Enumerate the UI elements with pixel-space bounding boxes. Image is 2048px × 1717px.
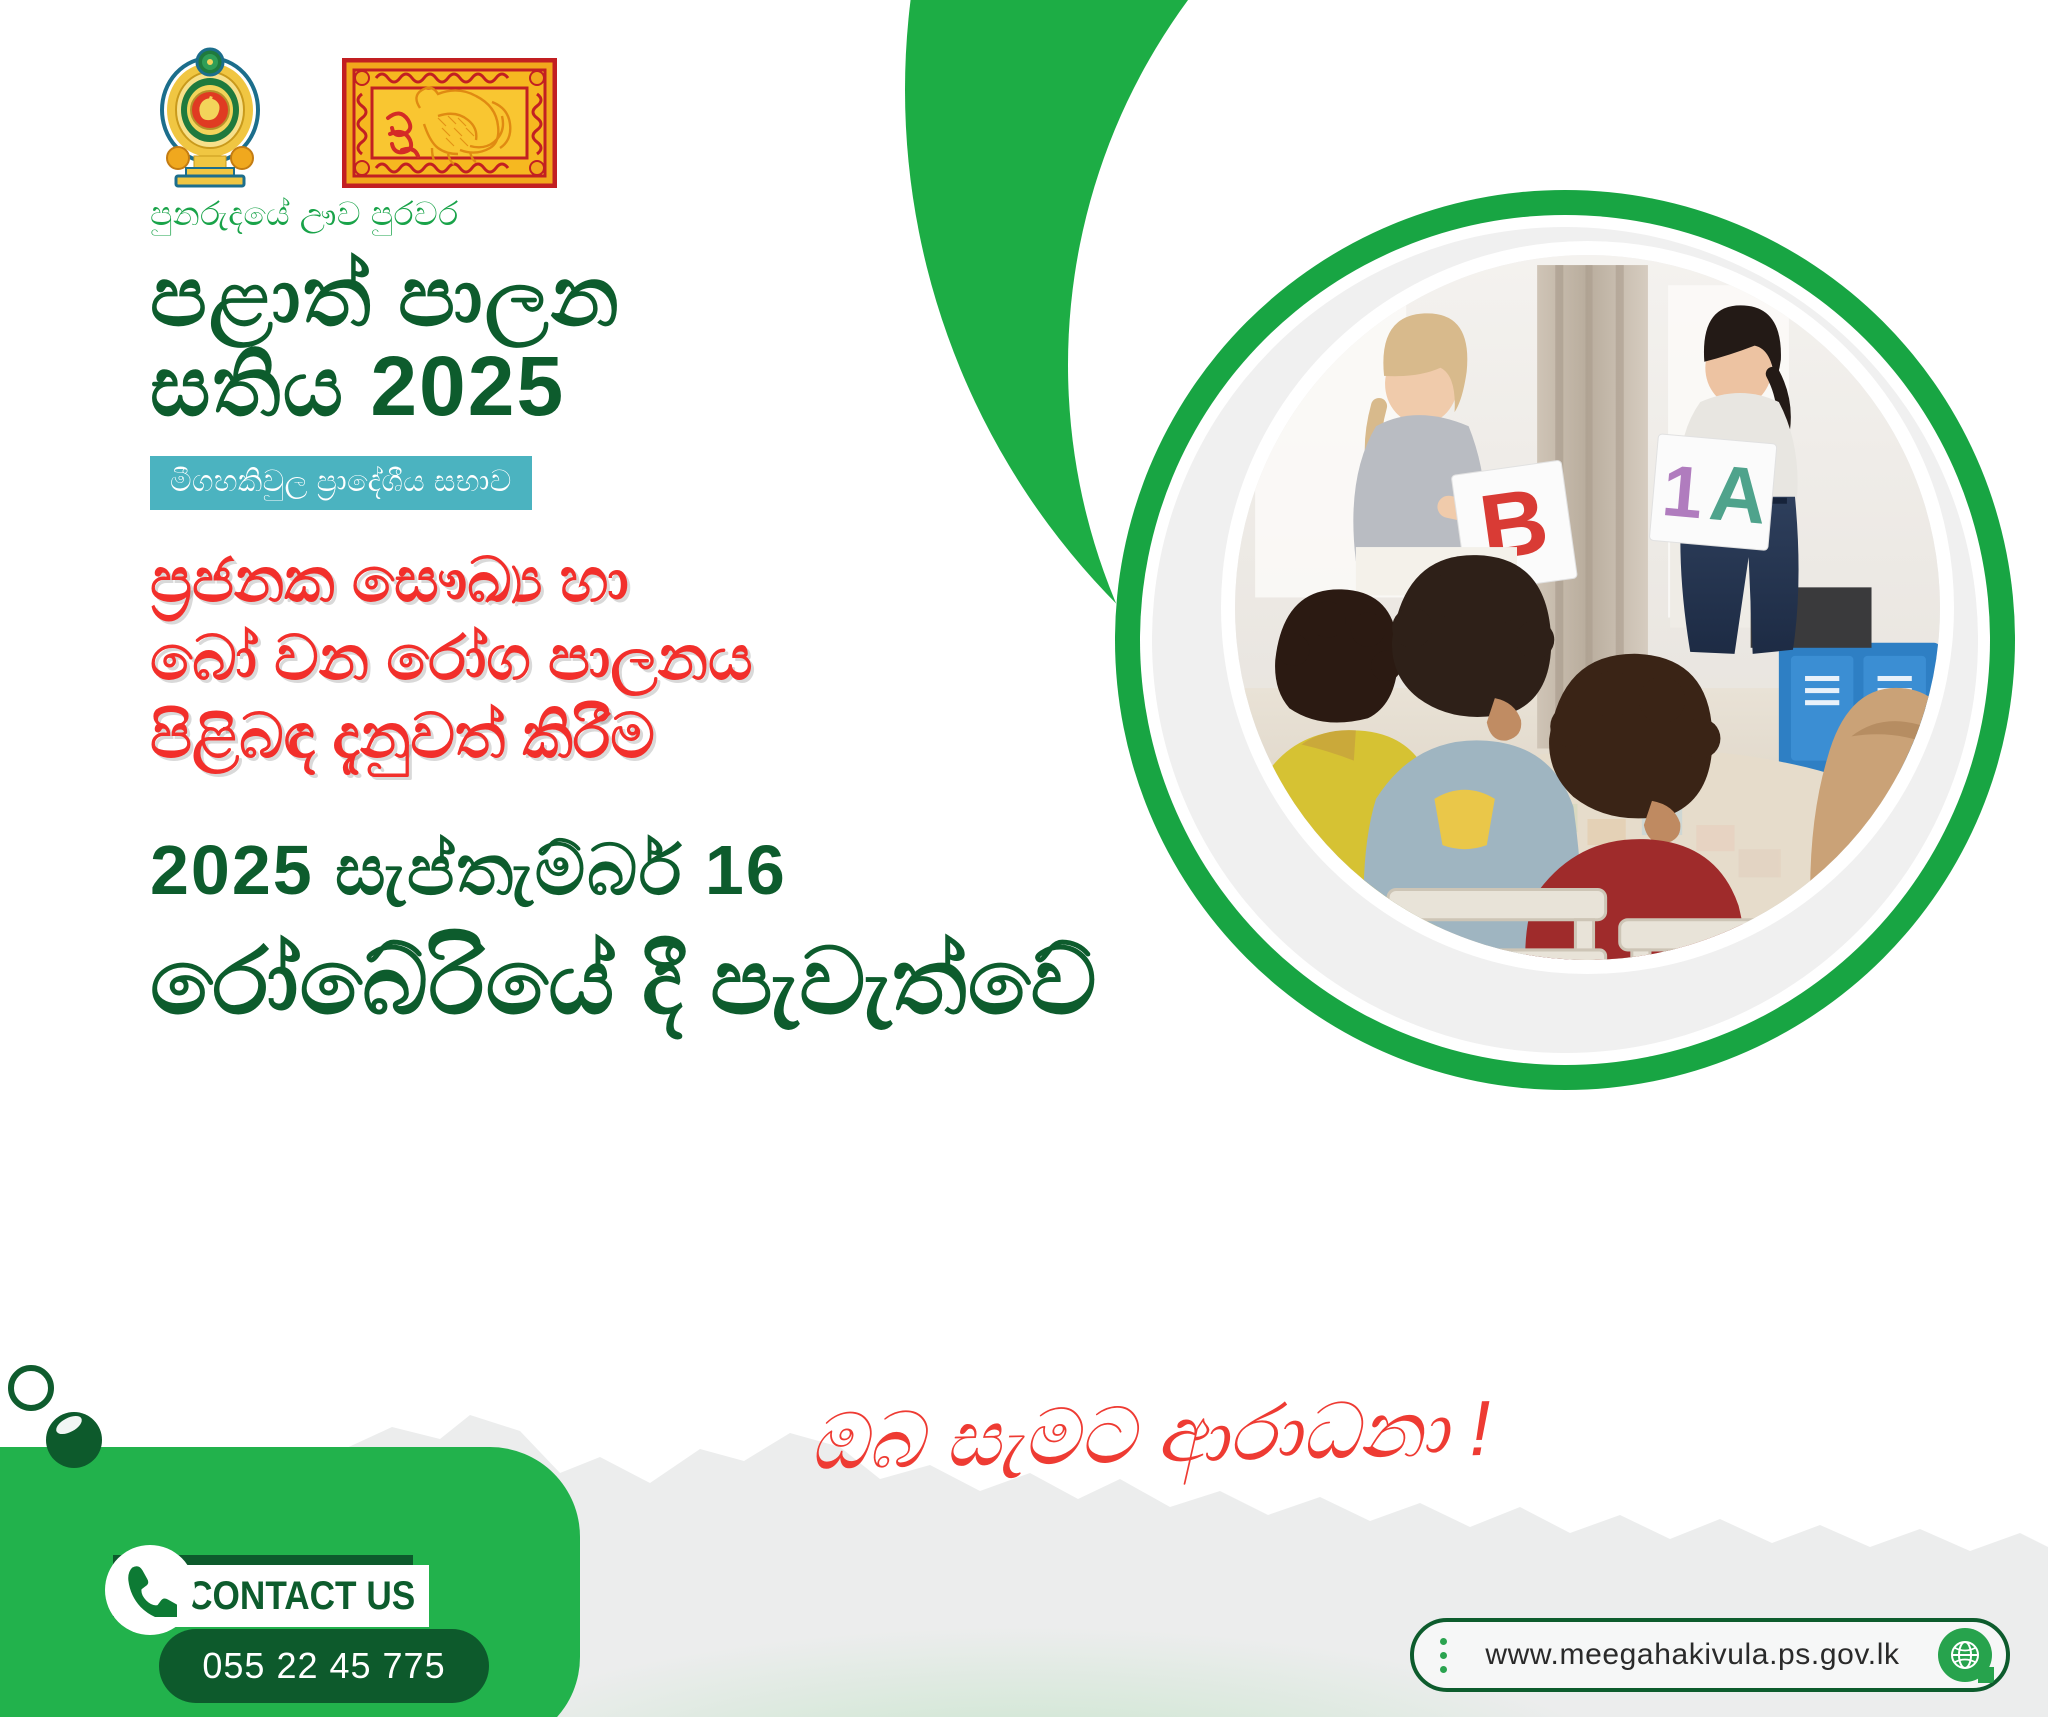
phone-number[interactable]: 055 22 45 775: [159, 1629, 489, 1703]
svg-text:A: A: [1706, 448, 1770, 541]
contact-us-card[interactable]: CONTACT US 055 22 45 775: [95, 1543, 525, 1635]
globe-icon: [1938, 1628, 1992, 1682]
uva-province-emblem-icon: [342, 58, 557, 188]
topic-line-3: පිළිබඳ දැනුවත් කිරීම: [150, 698, 1270, 776]
poster-canvas: B 1 A: [0, 0, 2048, 1717]
invitation-text: ඔබ සැමට ආරාධනා !: [789, 1382, 1511, 1489]
phone-handset-icon: [105, 1545, 195, 1635]
bubble-filled-icon: [46, 1412, 102, 1468]
topic-heading: ප්‍රජනක සෞඛ්‍ය හා බෝ වන රෝග පාලනය පිළිබඳ…: [150, 542, 1270, 776]
dot-decoration: [1440, 1638, 1447, 1673]
contact-label-row: CONTACT US: [95, 1543, 525, 1635]
topic-line-1: ප්‍රජනක සෞඛ්‍ය හා: [150, 542, 1270, 620]
title-line-1: පළාත් පාලන: [150, 249, 621, 343]
website-pill[interactable]: www.meegahakivula.ps.gov.lk: [1410, 1618, 2010, 1692]
event-date: 2025 සැප්තැම්බර් 16: [150, 830, 1270, 912]
website-url[interactable]: www.meegahakivula.ps.gov.lk: [1465, 1638, 1920, 1672]
sri-lanka-national-emblem-icon: [150, 40, 270, 188]
event-venue: රෝබේරියේ දී පැවැත්වේ: [150, 930, 1270, 1037]
page-title: පළාත් පාලන සතිය 2025: [150, 252, 1270, 432]
poster-text-column: පුනරුදයේ ඌව පුරවර පළාත් පාලන සතිය 2025 ම…: [150, 195, 1270, 1037]
classroom-photo: B 1 A: [1235, 255, 1940, 960]
svg-text:1: 1: [1659, 450, 1706, 534]
topic-line-2: බෝ වන රෝග පාලනය: [150, 620, 1270, 698]
bubble-outline-icon: [8, 1365, 54, 1411]
title-line-2: සතිය 2025: [150, 342, 1270, 432]
emblem-row: [150, 40, 557, 188]
tagline: පුනරුදයේ ඌව පුරවර: [150, 195, 1270, 234]
council-name-band: මීගහකිවුල ප්‍රාදේශීය සභාව: [150, 456, 532, 510]
contact-us-label: CONTACT US: [187, 1576, 415, 1616]
